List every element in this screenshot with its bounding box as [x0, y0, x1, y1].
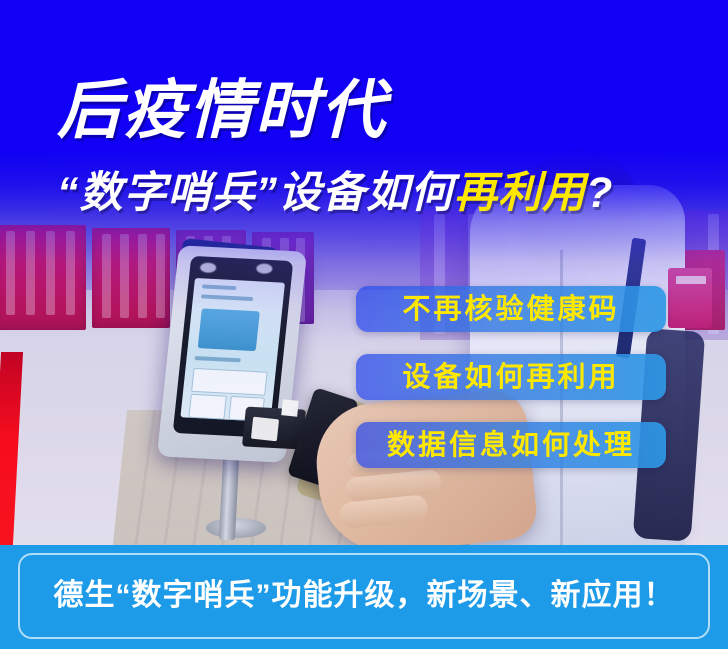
subtitle-highlight: 再利用: [454, 169, 586, 217]
feature-pill-label: 数据信息如何处理: [387, 431, 635, 459]
subtitle-prefix: “数字哨兵”设备如何: [57, 169, 454, 217]
kiosk-base: [206, 518, 266, 538]
feature-pill-label: 不再核验健康码: [402, 295, 619, 323]
banner-text: 德生“数字哨兵”功能升级，新场景、新应用！: [54, 581, 675, 611]
banner-frame: 德生“数字哨兵”功能升级，新场景、新应用！: [18, 553, 710, 639]
page-title: 后疫情时代: [57, 78, 387, 142]
feature-pill-list: 不再核验健康码 设备如何再利用 数据信息如何处理: [356, 286, 666, 490]
kiosk-screen-content: [180, 278, 285, 422]
poster-root: 后疫情时代 “数字哨兵”设备如何再利用? 不再核验健康码 设备如何再利用 数据信…: [0, 0, 728, 649]
badge-text-line: [676, 276, 706, 284]
kiosk-label-sticker: [251, 417, 279, 442]
feature-pill-2[interactable]: 设备如何再利用: [356, 354, 666, 400]
kiosk-qr-sticker: [281, 399, 299, 417]
bottom-banner: 德生“数字哨兵”功能升级，新场景、新应用！: [0, 545, 728, 649]
page-subtitle: “数字哨兵”设备如何再利用?: [57, 172, 613, 215]
feature-pill-label: 设备如何再利用: [402, 363, 619, 391]
subtitle-question-mark: ?: [586, 169, 613, 217]
feature-pill-3[interactable]: 数据信息如何处理: [356, 422, 666, 468]
barrier-panel: [92, 228, 170, 328]
feature-pill-1[interactable]: 不再核验健康码: [356, 286, 666, 332]
barrier-panel: [0, 225, 86, 330]
